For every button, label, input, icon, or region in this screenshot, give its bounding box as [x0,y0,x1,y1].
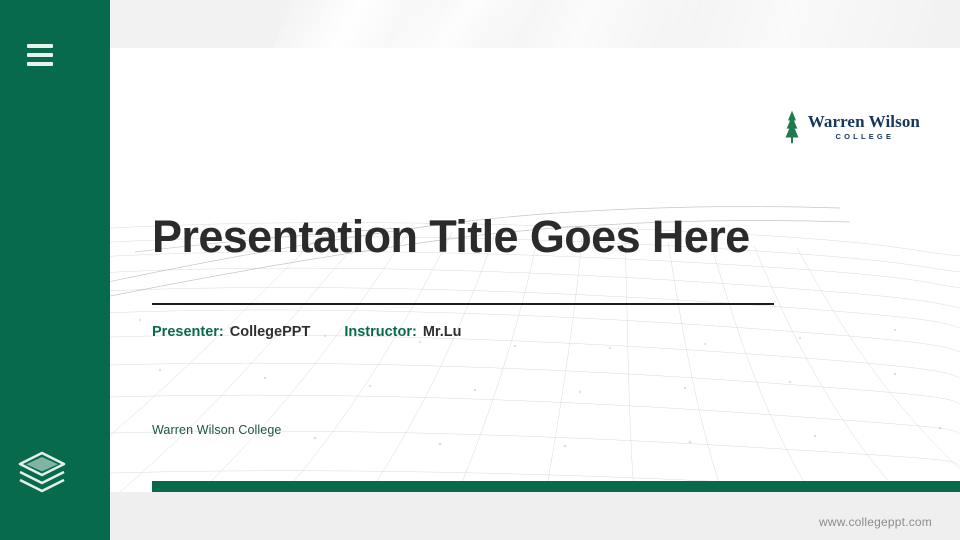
presenter-field: Presenter: CollegePPT [152,324,310,340]
slide-footer-text: Warren Wilson College [152,423,281,437]
logo-subtitle: COLLEGE [808,133,920,141]
instructor-value: Mr.Lu [423,324,462,340]
slide-canvas[interactable]: Warren Wilson COLLEGE Presentation Title… [80,48,960,492]
logo-name: Warren Wilson [808,113,920,130]
presentation-viewer: www.collegeppt.com [0,0,960,540]
hamburger-line-1 [27,44,53,48]
slide-accent-bar [152,481,960,492]
title-divider [152,303,774,305]
college-logo: Warren Wilson COLLEGE [783,110,920,144]
site-url-text: www.collegeppt.com [819,515,932,529]
presenter-value: CollegePPT [230,324,311,340]
bottom-band: www.collegeppt.com [110,492,960,540]
layers-stack-icon[interactable] [14,444,70,500]
presenter-label: Presenter: [152,324,224,340]
logo-wordmark: Warren Wilson COLLEGE [808,113,920,141]
sidebar [0,0,110,540]
instructor-field: Instructor: Mr.Lu [344,324,461,340]
swoosh-shape-4 [655,0,945,48]
instructor-label: Instructor: [344,324,417,340]
hamburger-line-3 [27,62,53,66]
slide-title: Presentation Title Goes Here [152,211,892,263]
pine-tree-icon [783,110,801,144]
hamburger-menu-icon[interactable] [27,44,53,66]
top-decorative-band [110,0,960,48]
hamburger-line-2 [27,53,53,57]
slide-meta: Presenter: CollegePPT Instructor: Mr.Lu [152,324,461,340]
